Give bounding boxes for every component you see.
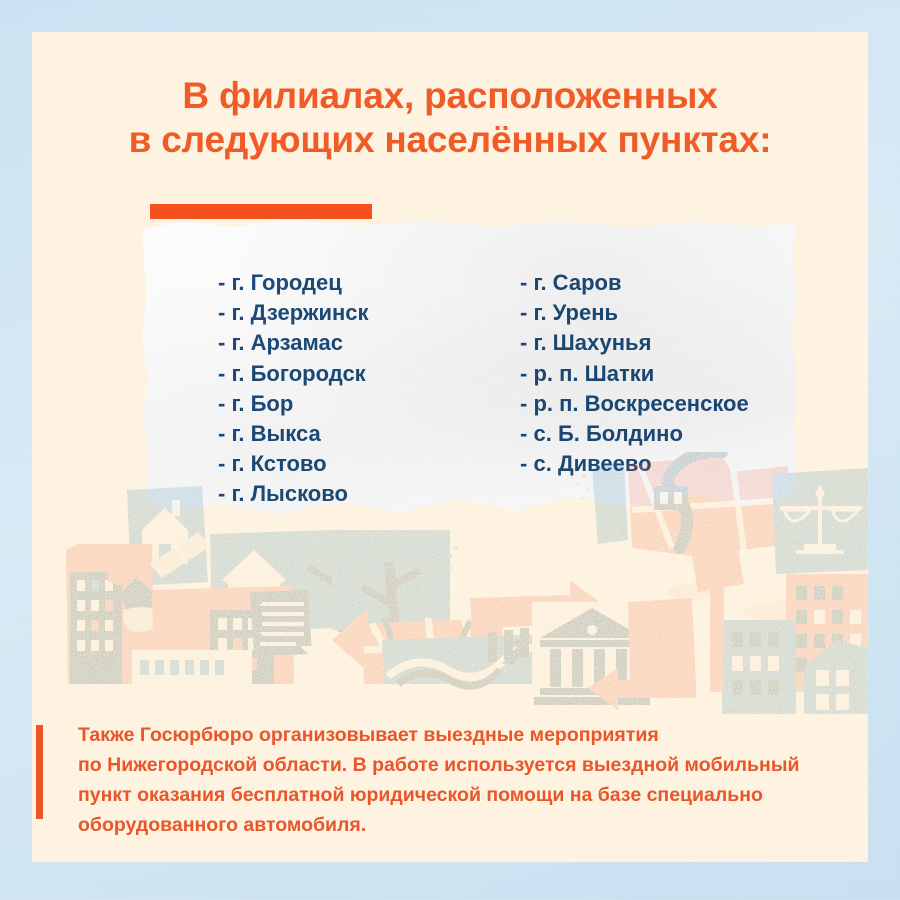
list-item: - р. п. Шатки — [520, 359, 797, 389]
list-item: - г. Бор — [218, 389, 452, 419]
map-fragment-icon — [592, 452, 792, 556]
title-line-2: в следующих населённых пунктах: — [32, 118, 868, 162]
list-item: - г. Дзержинск — [218, 298, 452, 328]
page-title: В филиалах, расположенных в следующих на… — [32, 74, 868, 162]
title-line-1: В филиалах, расположенных — [32, 74, 868, 118]
list-item: - г. Городец — [218, 268, 452, 298]
list-item: - г. Богородск — [218, 359, 452, 389]
road-icon — [382, 634, 556, 686]
content-card: В филиалах, расположенных в следующих на… — [32, 32, 868, 862]
list-item: - г. Урень — [520, 298, 797, 328]
scales-of-justice-icon — [772, 468, 868, 574]
list-item: - г. Шахунья — [520, 328, 797, 358]
note-accent-bar — [36, 725, 43, 819]
footer-note-line-3: пункт оказания бесплатной юридической по… — [78, 780, 838, 810]
poster-canvas: В филиалах, расположенных в следующих на… — [0, 0, 900, 900]
footer-note: Также Госюрбюро организовывает выездные … — [78, 720, 838, 840]
list-item: - г. Арзамас — [218, 328, 452, 358]
apartment-building-icon — [722, 620, 796, 714]
footer-note-line-1: Также Госюрбюро организовывает выездные … — [78, 720, 838, 750]
list-item: - г. Саров — [520, 268, 797, 298]
list-item: - р. п. Воскресенское — [520, 389, 797, 419]
document-icon — [250, 590, 312, 658]
bar-marks — [488, 628, 529, 662]
orange-accent-tab — [150, 204, 372, 219]
footer-note-line-2: по Нижегородской области. В работе испол… — [78, 750, 838, 780]
footer-note-line-4: оборудованного автомобиля. — [78, 810, 838, 840]
city-illustration — [32, 452, 868, 714]
list-item: - с. Б. Болдино — [520, 419, 797, 449]
speckle-texture — [571, 474, 590, 499]
list-item: - г. Выкса — [218, 419, 452, 449]
